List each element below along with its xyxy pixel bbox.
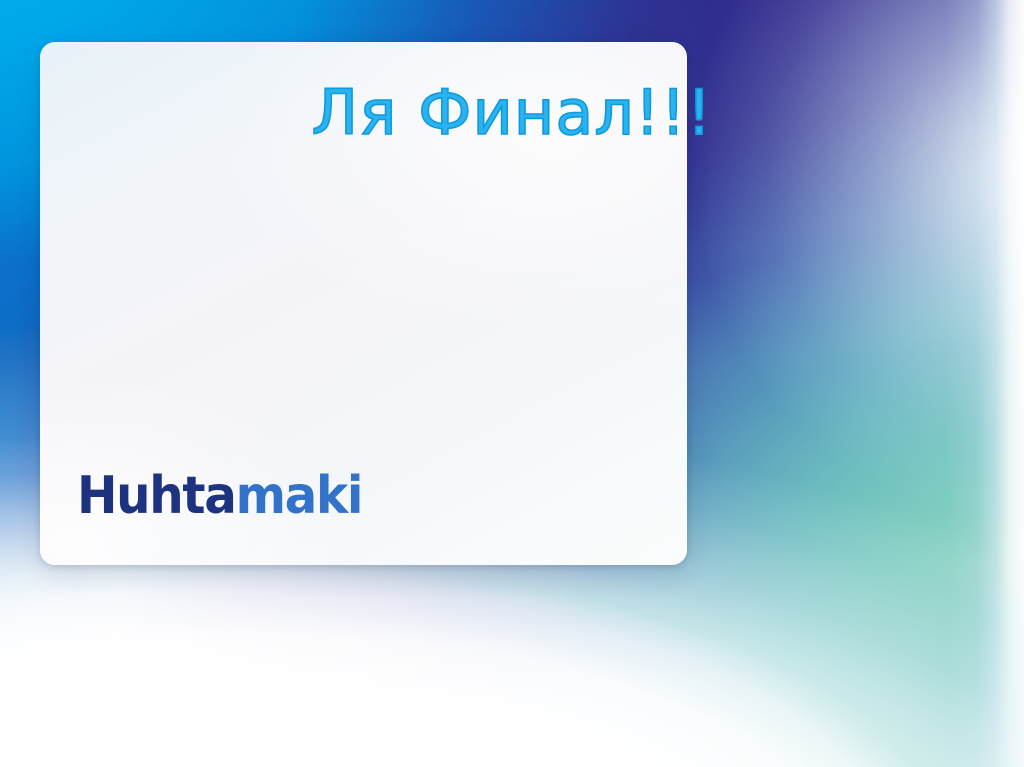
huhtamaki-logo: Huhtamaki — [77, 470, 362, 522]
logo-text-light: maki — [236, 466, 363, 526]
slide-title: Ля Финал!!! — [0, 82, 1024, 144]
presentation-slide: Ля Финал!!! Huhtamaki — [0, 0, 1024, 767]
logo-text-dark: Huhta — [77, 466, 236, 526]
